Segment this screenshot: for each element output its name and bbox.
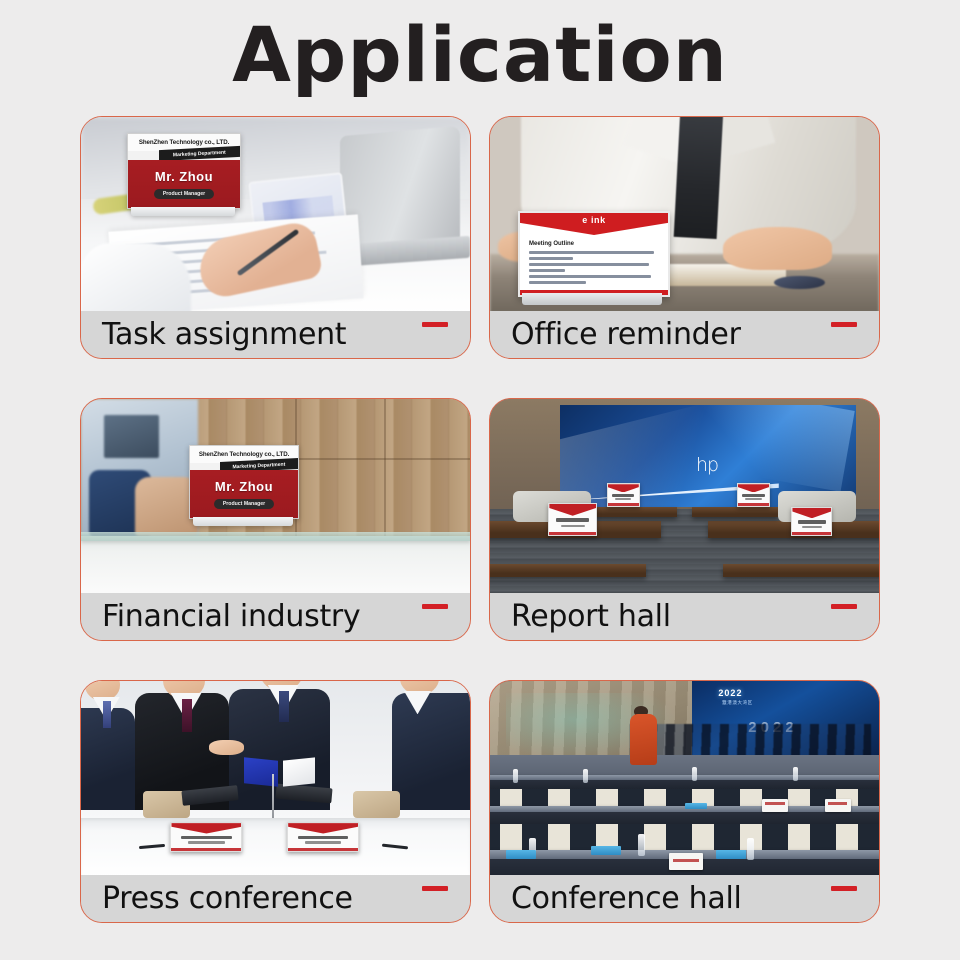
- badge-role: Product Manager: [154, 189, 214, 199]
- page-title: Application: [0, 8, 960, 102]
- card-title: Conference hall: [490, 881, 742, 916]
- hp-logo-icon: hp: [696, 454, 718, 476]
- name-card: [825, 799, 851, 812]
- name-tent: [791, 507, 832, 536]
- red-dash-icon: [422, 604, 448, 609]
- card-photo-financial-industry: ShenZhen Technology co., LTD. Marketing …: [81, 399, 470, 595]
- card-title: Task assignment: [81, 317, 346, 352]
- application-card-office-reminder[interactable]: e ink Meeting Outline Office reminder: [489, 116, 880, 359]
- eink-reminder-display: e ink Meeting Outline: [518, 211, 670, 297]
- name-tent: [548, 503, 597, 536]
- eink-name-badge: ShenZhen Technology co., LTD. Marketing …: [189, 445, 299, 519]
- card-title: Financial industry: [81, 599, 360, 634]
- application-card-financial-industry[interactable]: ShenZhen Technology co., LTD. Marketing …: [80, 398, 471, 641]
- card-label-report-hall: Report hall: [490, 593, 879, 640]
- application-card-conference-hall[interactable]: 2022 籤港澳大湾区 2022: [489, 680, 880, 923]
- card-title: Report hall: [490, 599, 671, 634]
- name-tent: [287, 822, 359, 851]
- red-dash-icon: [422, 886, 448, 891]
- card-photo-conference-hall: 2022 籤港澳大湾区 2022: [490, 681, 879, 877]
- eink-heading: Meeting Outline: [529, 241, 574, 247]
- red-dash-icon: [831, 322, 857, 327]
- red-dash-icon: [422, 322, 448, 327]
- name-card: [762, 799, 788, 812]
- card-title: Office reminder: [490, 317, 741, 352]
- card-photo-report-hall: hp: [490, 399, 879, 595]
- card-photo-press-conference: [81, 681, 470, 877]
- card-label-conference-hall: Conference hall: [490, 875, 879, 922]
- card-photo-task-assignment: ShenZhen Technology co., LTD. Marketing …: [81, 117, 470, 313]
- card-label-financial-industry: Financial industry: [81, 593, 470, 640]
- application-card-task-assignment[interactable]: ShenZhen Technology co., LTD. Marketing …: [80, 116, 471, 359]
- badge-name: Mr. Zhou: [155, 169, 213, 184]
- name-card: [669, 853, 703, 870]
- eink-banner-label: e ink: [582, 215, 606, 235]
- eink-body-lines: [529, 251, 659, 287]
- red-dash-icon: [831, 886, 857, 891]
- badge-name: Mr. Zhou: [215, 479, 273, 494]
- card-label-office-reminder: Office reminder: [490, 311, 879, 358]
- red-dash-icon: [831, 604, 857, 609]
- stage-screen-subtitle: 籤港澳大湾区: [722, 700, 753, 706]
- card-label-task-assignment: Task assignment: [81, 311, 470, 358]
- eink-name-badge: ShenZhen Technology co., LTD. Marketing …: [127, 133, 241, 209]
- name-tent: [170, 822, 242, 851]
- application-card-report-hall[interactable]: hp: [489, 398, 880, 641]
- card-photo-office-reminder: e ink Meeting Outline: [490, 117, 879, 313]
- name-tent: [607, 483, 640, 507]
- stage-screen-title: 2022: [718, 688, 742, 698]
- name-tent: [737, 483, 770, 507]
- card-label-press-conference: Press conference: [81, 875, 470, 922]
- application-card-grid: ShenZhen Technology co., LTD. Marketing …: [80, 116, 880, 923]
- card-title: Press conference: [81, 881, 353, 916]
- application-card-press-conference[interactable]: Press conference: [80, 680, 471, 923]
- badge-role: Product Manager: [214, 499, 274, 509]
